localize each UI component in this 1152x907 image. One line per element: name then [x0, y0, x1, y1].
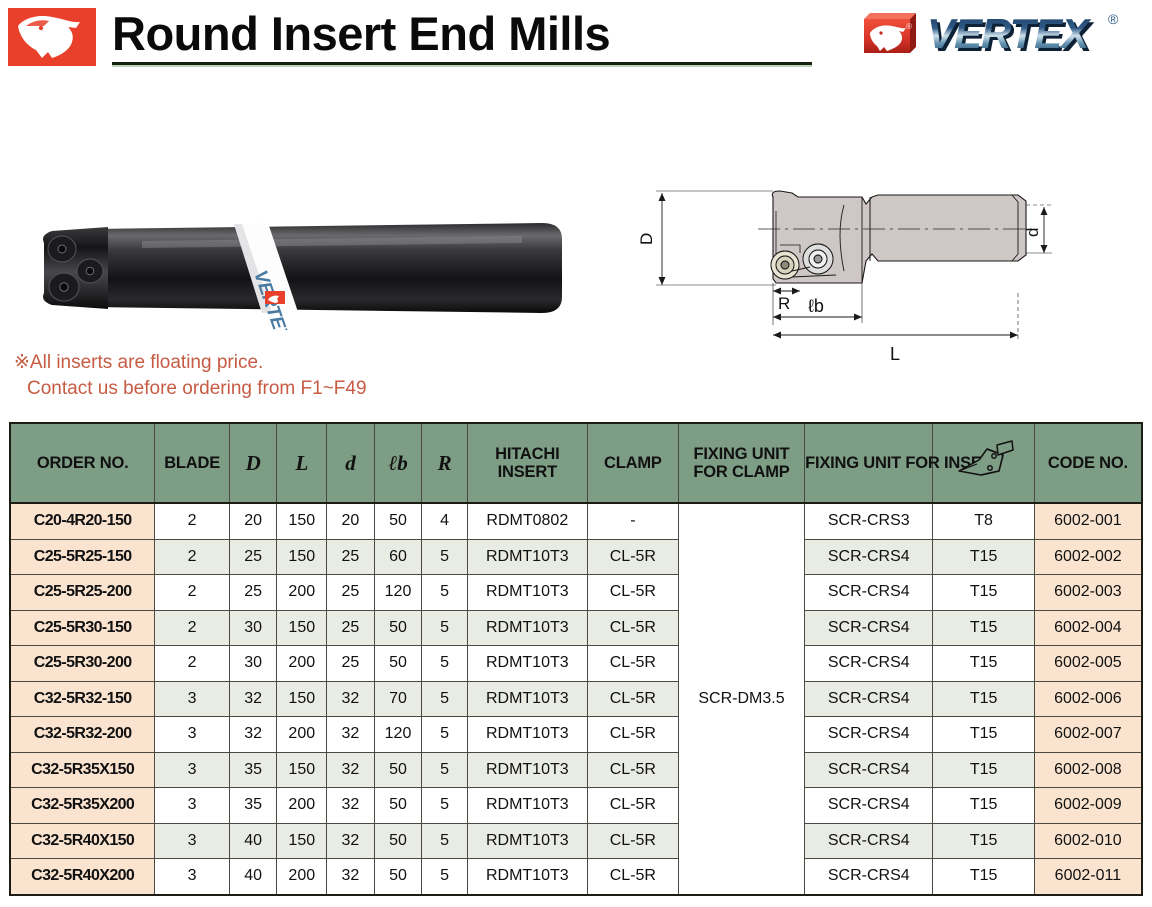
cell-d: 20: [327, 503, 375, 539]
table-row: C25-5R30-15023015025505RDMT10T3CL-5RSCR-…: [10, 610, 1142, 646]
dim-label-lb: ℓb: [808, 296, 824, 316]
col-header-code-no: CODE NO.: [1034, 423, 1142, 503]
col-header-d: d: [327, 423, 375, 503]
cell-d: 25: [327, 610, 375, 646]
price-note: ※All inserts are floating price. Contact…: [14, 350, 534, 402]
registered-mark: ®: [1108, 11, 1119, 27]
torx-key-wrench-icon: [953, 440, 1015, 486]
cell-tool-size: T15: [933, 610, 1034, 646]
cell-D: 30: [229, 646, 277, 682]
cell-lb: 50: [374, 859, 422, 895]
cell-clamp: CL-5R: [587, 717, 678, 753]
cell-hitachi-insert: RDMT10T3: [467, 610, 587, 646]
cell-code-no: 6002-001: [1034, 503, 1142, 539]
cell-code-no: 6002-009: [1034, 788, 1142, 824]
table-row: C25-5R30-20023020025505RDMT10T3CL-5RSCR-…: [10, 646, 1142, 682]
cell-fixing-unit-for-insert: SCR-CRS4: [805, 859, 933, 895]
cell-order-no: C32-5R35X200: [10, 788, 155, 824]
cell-order-no: C25-5R30-150: [10, 610, 155, 646]
cell-D: 32: [229, 681, 277, 717]
cell-R: 5: [422, 717, 468, 753]
cell-order-no: C32-5R32-200: [10, 717, 155, 753]
col-header-hitachi-insert: HITACHI INSERT: [467, 423, 587, 503]
cell-D: 25: [229, 539, 277, 575]
cell-hitachi-insert: RDMT10T3: [467, 539, 587, 575]
cell-fixing-unit-for-insert: SCR-CRS4: [805, 646, 933, 682]
cell-order-no: C25-5R25-200: [10, 575, 155, 611]
cell-R: 5: [422, 788, 468, 824]
cell-blade: 2: [155, 503, 230, 539]
cell-hitachi-insert: RDMT10T3: [467, 752, 587, 788]
cell-hitachi-insert: RDMT10T3: [467, 717, 587, 753]
cell-blade: 2: [155, 575, 230, 611]
cell-lb: 120: [374, 717, 422, 753]
cell-blade: 3: [155, 823, 230, 859]
cell-D: 35: [229, 788, 277, 824]
cell-d: 25: [327, 539, 375, 575]
col-header-L: L: [277, 423, 327, 503]
col-header-blade: BLADE: [155, 423, 230, 503]
table-row: C32-5R40X15034015032505RDMT10T3CL-5RSCR-…: [10, 823, 1142, 859]
cell-D: 30: [229, 610, 277, 646]
cell-hitachi-insert: RDMT0802: [467, 503, 587, 539]
cell-order-no: C32-5R40X150: [10, 823, 155, 859]
cell-order-no: C32-5R35X150: [10, 752, 155, 788]
cell-L: 200: [277, 575, 327, 611]
cell-fixing-unit-for-insert: SCR-CRS4: [805, 610, 933, 646]
cell-fixing-unit-for-insert: SCR-CRS4: [805, 575, 933, 611]
cell-L: 200: [277, 717, 327, 753]
cell-order-no: C32-5R32-150: [10, 681, 155, 717]
cell-R: 5: [422, 681, 468, 717]
cell-fixing-unit-for-insert: SCR-CRS3: [805, 503, 933, 539]
cell-D: 32: [229, 717, 277, 753]
cell-tool-size: T15: [933, 717, 1034, 753]
title-underline-accent: [112, 65, 812, 67]
cell-lb: 120: [374, 575, 422, 611]
cell-L: 200: [277, 788, 327, 824]
cell-R: 5: [422, 575, 468, 611]
cell-clamp: CL-5R: [587, 788, 678, 824]
cell-lb: 50: [374, 646, 422, 682]
col-header-order-no: ORDER NO.: [10, 423, 155, 503]
cell-blade: 3: [155, 681, 230, 717]
cell-D: 35: [229, 752, 277, 788]
cell-code-no: 6002-011: [1034, 859, 1142, 895]
cell-fixing-unit-for-insert: SCR-CRS4: [805, 539, 933, 575]
cell-blade: 2: [155, 539, 230, 575]
cell-L: 150: [277, 503, 327, 539]
cell-R: 5: [422, 610, 468, 646]
vertex-eagle-box-icon: ®: [864, 13, 916, 53]
cell-blade: 3: [155, 752, 230, 788]
dim-label-d: d: [1023, 228, 1042, 237]
fixing-unit-for-clamp-value: SCR-DM3.5: [679, 690, 804, 708]
cell-blade: 3: [155, 859, 230, 895]
page-header: Round Insert End Mills: [0, 0, 1152, 80]
col-header-lb: ℓb: [374, 423, 422, 503]
product-photo: VERTEX: [22, 205, 582, 330]
cell-blade: 3: [155, 788, 230, 824]
cell-clamp: CL-5R: [587, 681, 678, 717]
cell-fixing-unit-for-clamp: SCR-DM3.5: [678, 503, 804, 895]
cell-tool-size: T15: [933, 752, 1034, 788]
cell-tool-size: T15: [933, 859, 1034, 895]
cell-hitachi-insert: RDMT10T3: [467, 859, 587, 895]
cell-d: 32: [327, 717, 375, 753]
table-row: C32-5R32-15033215032705RDMT10T3CL-5RSCR-…: [10, 681, 1142, 717]
cell-D: 40: [229, 859, 277, 895]
cell-blade: 2: [155, 646, 230, 682]
cell-clamp: CL-5R: [587, 823, 678, 859]
end-mill-dimension-diagram: D d R ℓb L: [640, 175, 1060, 370]
svg-text:®: ®: [906, 22, 912, 31]
cell-lb: 50: [374, 788, 422, 824]
col-header-fixing-unit-for-clamp: FIXING UNIT FOR CLAMP: [678, 423, 804, 503]
cell-blade: 2: [155, 610, 230, 646]
dim-label-L: L: [890, 344, 900, 364]
cell-L: 200: [277, 646, 327, 682]
cell-order-no: C20-4R20-150: [10, 503, 155, 539]
cell-tool-size: T15: [933, 575, 1034, 611]
cell-order-no: C25-5R30-200: [10, 646, 155, 682]
spec-table: ORDER NO. BLADE D L d ℓb R HITACHI INSER…: [9, 422, 1143, 896]
table-row: C32-5R35X15033515032505RDMT10T3CL-5RSCR-…: [10, 752, 1142, 788]
cell-L: 200: [277, 859, 327, 895]
cell-D: 20: [229, 503, 277, 539]
cell-clamp: CL-5R: [587, 539, 678, 575]
col-header-clamp: CLAMP: [587, 423, 678, 503]
note-symbol: ※: [14, 352, 30, 373]
cell-L: 150: [277, 823, 327, 859]
col-header-fixing-unit-for-insert: FIXING UNIT FOR INSERT: [805, 423, 933, 503]
cell-fixing-unit-for-insert: SCR-CRS4: [805, 788, 933, 824]
cell-code-no: 6002-008: [1034, 752, 1142, 788]
cell-hitachi-insert: RDMT10T3: [467, 681, 587, 717]
table-body: C20-4R20-15022015020504RDMT0802-SCR-DM3.…: [10, 503, 1142, 895]
cell-lb: 70: [374, 681, 422, 717]
cell-code-no: 6002-004: [1034, 610, 1142, 646]
cell-tool-size: T15: [933, 788, 1034, 824]
cell-tool-size: T15: [933, 681, 1034, 717]
cell-fixing-unit-for-insert: SCR-CRS4: [805, 681, 933, 717]
table-row: C25-5R25-200225200251205RDMT10T3CL-5RSCR…: [10, 575, 1142, 611]
cell-clamp: CL-5R: [587, 575, 678, 611]
page-title: Round Insert End Mills: [112, 6, 610, 62]
cell-code-no: 6002-003: [1034, 575, 1142, 611]
col-header-R: R: [422, 423, 468, 503]
cell-L: 150: [277, 681, 327, 717]
cell-L: 150: [277, 752, 327, 788]
cell-clamp: CL-5R: [587, 859, 678, 895]
cell-R: 5: [422, 752, 468, 788]
cell-code-no: 6002-005: [1034, 646, 1142, 682]
svg-text:VERTEX: VERTEX: [927, 10, 1092, 57]
cell-fixing-unit-for-insert: SCR-CRS4: [805, 752, 933, 788]
cell-R: 5: [422, 646, 468, 682]
cell-fixing-unit-for-insert: SCR-CRS4: [805, 823, 933, 859]
dim-label-D: D: [640, 233, 656, 245]
cell-hitachi-insert: RDMT10T3: [467, 788, 587, 824]
table-row: C20-4R20-15022015020504RDMT0802-SCR-DM3.…: [10, 503, 1142, 539]
cell-lb: 60: [374, 539, 422, 575]
cell-R: 4: [422, 503, 468, 539]
cell-code-no: 6002-010: [1034, 823, 1142, 859]
cell-clamp: CL-5R: [587, 610, 678, 646]
cell-clamp: -: [587, 503, 678, 539]
cell-lb: 50: [374, 823, 422, 859]
note-line-2: Contact us before ordering from F1~F49: [14, 376, 534, 402]
table-header-row: ORDER NO. BLADE D L d ℓb R HITACHI INSER…: [10, 423, 1142, 503]
cell-lb: 50: [374, 610, 422, 646]
cell-d: 32: [327, 859, 375, 895]
table-row: C25-5R25-15022515025605RDMT10T3CL-5RSCR-…: [10, 539, 1142, 575]
cell-D: 40: [229, 823, 277, 859]
note-line-1: All inserts are floating price.: [30, 352, 263, 373]
cell-tool-size: T8: [933, 503, 1034, 539]
cell-code-no: 6002-002: [1034, 539, 1142, 575]
cell-R: 5: [422, 859, 468, 895]
cell-hitachi-insert: RDMT10T3: [467, 646, 587, 682]
cell-order-no: C25-5R25-150: [10, 539, 155, 575]
spec-table-container: ORDER NO. BLADE D L d ℓb R HITACHI INSER…: [9, 422, 1143, 896]
cell-d: 32: [327, 752, 375, 788]
cell-L: 150: [277, 539, 327, 575]
cell-tool-size: T15: [933, 823, 1034, 859]
cell-hitachi-insert: RDMT10T3: [467, 575, 587, 611]
col-header-D: D: [229, 423, 277, 503]
cell-d: 32: [327, 823, 375, 859]
cell-code-no: 6002-007: [1034, 717, 1142, 753]
dim-label-R: R: [778, 294, 790, 313]
vertex-logo: ® VERTEX VERTEX ®: [850, 7, 1140, 63]
cell-d: 32: [327, 788, 375, 824]
cell-lb: 50: [374, 752, 422, 788]
eagle-head-icon: [8, 8, 96, 66]
table-row: C32-5R35X20033520032505RDMT10T3CL-5RSCR-…: [10, 788, 1142, 824]
cell-hitachi-insert: RDMT10T3: [467, 823, 587, 859]
cell-blade: 3: [155, 717, 230, 753]
cell-D: 25: [229, 575, 277, 611]
cell-R: 5: [422, 539, 468, 575]
cell-order-no: C32-5R40X200: [10, 859, 155, 895]
table-row: C32-5R40X20034020032505RDMT10T3CL-5RSCR-…: [10, 859, 1142, 895]
cell-code-no: 6002-006: [1034, 681, 1142, 717]
cell-d: 32: [327, 681, 375, 717]
cell-fixing-unit-for-insert: SCR-CRS4: [805, 717, 933, 753]
cell-d: 25: [327, 575, 375, 611]
cell-clamp: CL-5R: [587, 752, 678, 788]
table-row: C32-5R32-200332200321205RDMT10T3CL-5RSCR…: [10, 717, 1142, 753]
cell-d: 25: [327, 646, 375, 682]
cell-tool-size: T15: [933, 539, 1034, 575]
cell-lb: 50: [374, 503, 422, 539]
cell-tool-size: T15: [933, 646, 1034, 682]
cell-L: 150: [277, 610, 327, 646]
cell-R: 5: [422, 823, 468, 859]
cell-clamp: CL-5R: [587, 646, 678, 682]
